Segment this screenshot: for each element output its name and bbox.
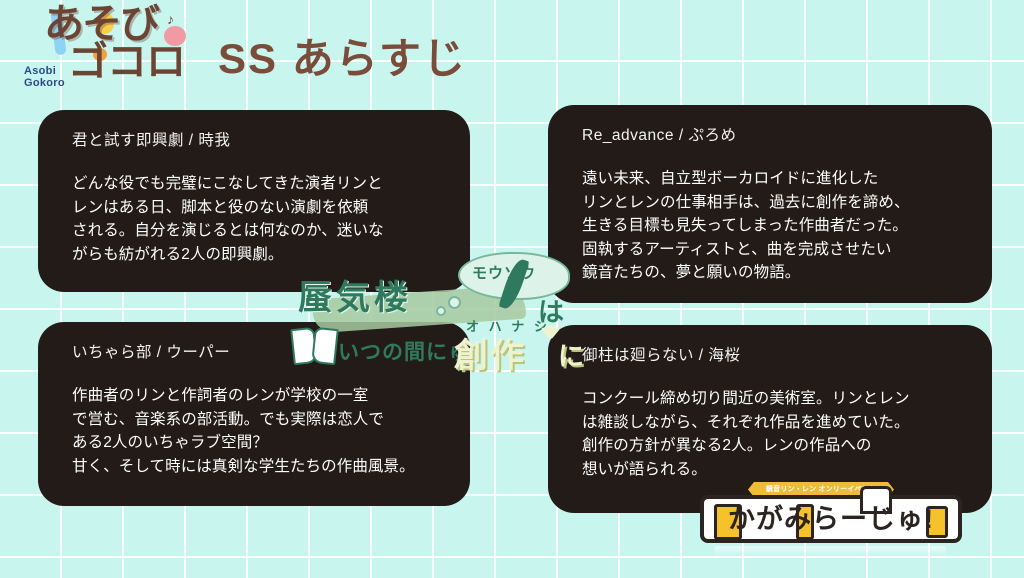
synopsis-card-title: いちゃら部 / ウーパー: [72, 340, 446, 362]
music-note-icon: ♪: [167, 11, 174, 27]
synopsis-card-body: 遠い未来、自立型ボーカロイドに進化した リンとレンの仕事相手は、過去に創作を諦め…: [582, 167, 968, 285]
logo-text-line1: あそび: [44, 6, 158, 43]
synopsis-card: 君と試す即興劇 / 時我 どんな役でも完璧にこなしてきた演者リンと レンはある日…: [38, 110, 470, 292]
speech-bubble-dot-large: [448, 296, 461, 309]
watermark-ruby-ohanashi: オ ハ ナ シ: [466, 316, 550, 335]
synopsis-card: Re_advance / ぷろめ 遠い未来、自立型ボーカロイドに進化した リンと…: [548, 105, 992, 303]
synopsis-card-title: 御柱は廻らない / 海桜: [582, 343, 968, 365]
logo-romaji-line2: Gokoro: [24, 78, 65, 90]
synopsis-card: いちゃら部 / ウーパー 作曲者のリンと作詞者のレンが学校の一室 で営む、音楽系…: [38, 322, 470, 506]
event-logo-reflection: [714, 546, 946, 556]
synopsis-card-body: コンクール締め切り間近の美術室。リンとレン は雑談しながら、それぞれ作品を進めて…: [582, 387, 968, 481]
event-logo-wordmark: かがみらーじゅ!: [710, 500, 952, 538]
logo-text-line2: ゴコロ: [68, 44, 185, 81]
synopsis-card-title: 君と試す即興劇 / 時我: [72, 128, 446, 150]
logo-romaji: Asobi Gokoro: [24, 66, 65, 89]
page-title: SS あらすじ: [218, 25, 467, 86]
event-logo: 鏡音リン・レン オンリーイベント かがみらーじゅ!: [700, 482, 962, 556]
slide-canvas: ♪ あそび ゴコロ Asobi Gokoro SS あらすじ 君と試す即興劇 /…: [0, 0, 1024, 578]
feather-pen-icon: [498, 257, 529, 311]
synopsis-card-body: 作曲者のリンと作詞者のレンが学校の一室 で営む、音楽系の部活動。でも実際は恋人で…: [72, 384, 446, 478]
speech-bubble-dot-small: [436, 306, 446, 316]
synopsis-card-title: Re_advance / ぷろめ: [582, 123, 968, 145]
watermark-ruby-mousou: モウソウ: [472, 262, 536, 283]
logo-romaji-line1: Asobi: [24, 66, 65, 78]
synopsis-card-body: どんな役でも完璧にこなしてきた演者リンと レンはある日、脚本と役のない演劇を依頼…: [72, 172, 446, 266]
asobi-gokoro-logo: ♪ あそび ゴコロ Asobi Gokoro: [16, 4, 202, 106]
